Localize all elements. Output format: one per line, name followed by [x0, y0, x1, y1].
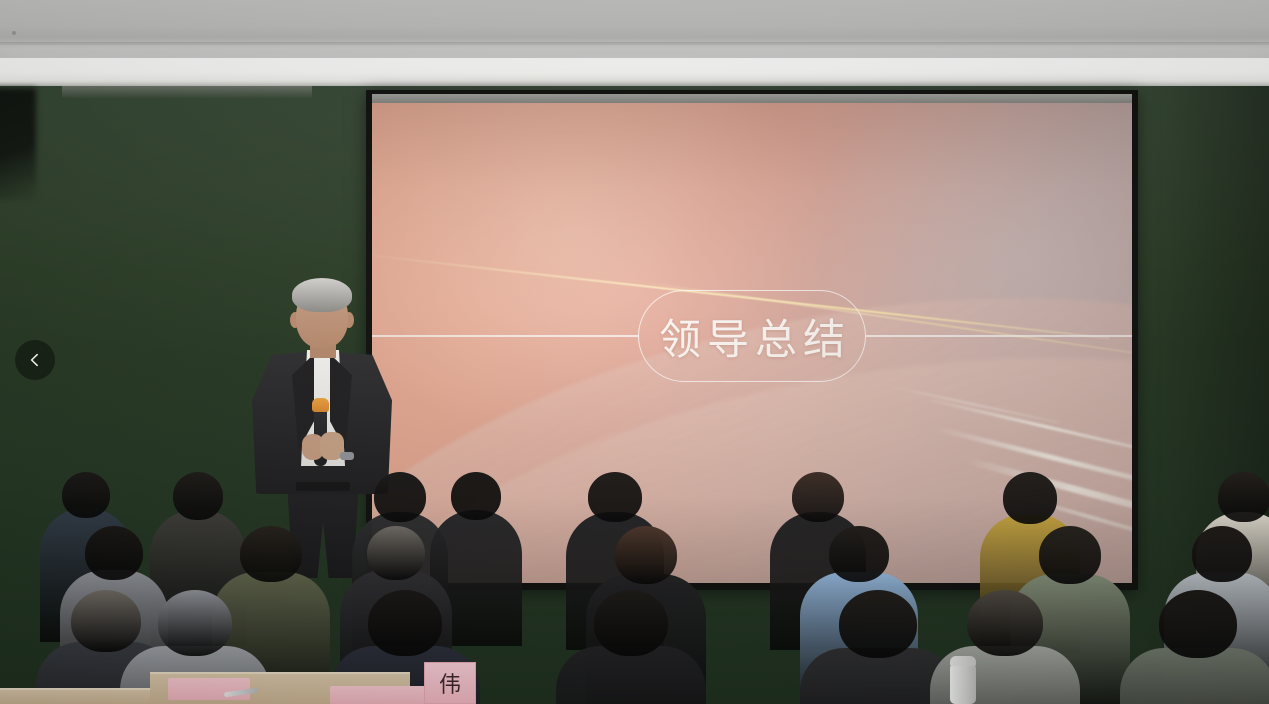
audience-head	[1039, 526, 1101, 584]
audience-head	[839, 590, 917, 658]
ceiling-seam	[0, 42, 1269, 45]
audience-head	[173, 472, 223, 520]
attendee-front-4	[556, 590, 706, 704]
ceiling	[0, 0, 1269, 62]
name-placard: 伟	[424, 662, 476, 704]
audience-head	[594, 590, 668, 656]
audience-head	[615, 526, 677, 584]
thermos-bottle	[950, 662, 976, 704]
audience-head	[1159, 590, 1237, 658]
audience-head	[829, 526, 889, 582]
name-placard-text: 伟	[439, 667, 461, 699]
wall-corner-shadow	[0, 88, 36, 200]
audience-head	[367, 526, 425, 580]
audience-head	[1218, 472, 1269, 522]
chevron-left-icon	[27, 352, 43, 368]
audience-head	[792, 472, 844, 522]
wall-vent	[62, 86, 312, 98]
audience-head	[1192, 526, 1252, 582]
audience-head	[967, 590, 1043, 656]
desk-far-left	[0, 688, 150, 704]
attendee-front-7	[1120, 590, 1269, 704]
microphone-head	[312, 398, 329, 412]
audience-head	[62, 472, 110, 518]
audience-head	[588, 472, 642, 522]
audience-head	[1003, 472, 1057, 524]
audience-head	[158, 590, 232, 656]
audience	[0, 430, 1269, 704]
audience-head	[451, 472, 501, 520]
ceiling-light-strip	[0, 58, 1269, 84]
desk-paper	[168, 678, 250, 700]
audience-head	[85, 526, 143, 580]
audience-head	[374, 472, 426, 522]
audience-head	[368, 590, 442, 656]
photo-viewer-stage: 领导总结 伟	[0, 0, 1269, 704]
ceiling-screw	[12, 31, 16, 35]
audience-head	[240, 526, 302, 582]
thermos-cap	[950, 656, 976, 666]
speaker-hair	[292, 278, 352, 312]
prev-photo-button[interactable]	[15, 340, 55, 380]
